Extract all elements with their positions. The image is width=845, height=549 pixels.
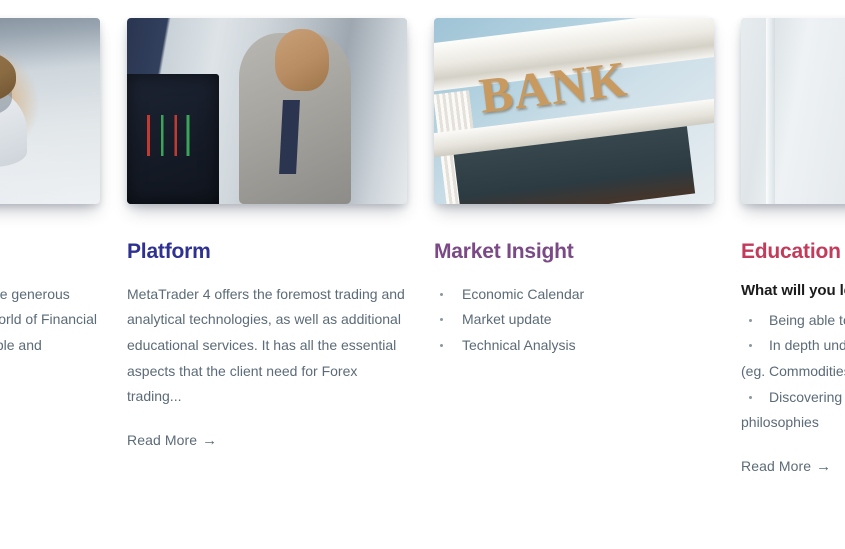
- card-bullet-list-market-insight: Economic Calendar Market update Technica…: [434, 282, 714, 359]
- list-item: Market update: [434, 307, 714, 333]
- photo-detail-candlestick-chart: [135, 115, 202, 156]
- carousel-track[interactable]: Partnerships At Merlion we strive to pro…: [0, 0, 845, 549]
- trader-at-monitors-photo: [127, 18, 407, 204]
- arrow-right-icon: →: [816, 458, 831, 475]
- list-item: Discovering trading and business philoso…: [741, 385, 845, 436]
- card-body-partnerships: Partnerships At Merlion we strive to pro…: [0, 204, 100, 424]
- card-market-insight[interactable]: BANK Market Insight Economic Calendar Ma…: [434, 0, 714, 399]
- card-image-partnerships[interactable]: [0, 18, 100, 204]
- card-text-partnerships: At Merlion we strive to provide generous…: [0, 282, 100, 384]
- card-partnerships[interactable]: Partnerships At Merlion we strive to pro…: [0, 0, 100, 424]
- list-item: Economic Calendar: [434, 282, 714, 308]
- card-image-market-insight[interactable]: BANK: [434, 18, 714, 204]
- card-body-platform: Platform MetaTrader 4 offers the foremos…: [127, 204, 407, 450]
- list-item: Technical Analysis: [434, 333, 714, 359]
- list-item: Being able to trade confidently: [741, 308, 845, 334]
- services-carousel[interactable]: Partnerships At Merlion we strive to pro…: [0, 0, 845, 549]
- card-title-partnerships: Partnerships: [0, 238, 100, 266]
- list-item: In depth understanding of the market (eg…: [741, 333, 845, 384]
- photo-detail-head: [275, 29, 328, 90]
- bank-building-facade-photo: BANK: [434, 18, 714, 204]
- card-image-platform[interactable]: [127, 18, 407, 204]
- read-more-link-platform[interactable]: Read More→: [127, 432, 217, 449]
- card-platform[interactable]: Platform MetaTrader 4 offers the foremos…: [127, 0, 407, 450]
- arrow-right-icon: →: [202, 432, 217, 449]
- raised-hand-presenting-photo: [741, 18, 845, 204]
- card-image-education-merlion[interactable]: [741, 18, 845, 204]
- read-more-link-education-merlion[interactable]: Read More→: [741, 458, 831, 475]
- card-title-market-insight: Market Insight: [434, 238, 714, 266]
- card-title-education-merlion: Education Merlion: [741, 238, 845, 266]
- card-title-platform: Platform: [127, 238, 407, 266]
- card-bullet-list-education-merlion: Being able to trade confidently In depth…: [741, 308, 845, 436]
- card-body-education-merlion: Education Merlion What will you learn? B…: [741, 204, 845, 476]
- photo-detail-tie: [279, 100, 300, 174]
- read-more-label: Read More: [741, 458, 811, 474]
- card-body-market-insight: Market Insight Economic Calendar Market …: [434, 204, 714, 399]
- read-more-label: Read More: [127, 432, 197, 448]
- young-professional-with-tablet-photo: [0, 18, 100, 204]
- card-subheading-education-merlion: What will you learn?: [741, 282, 845, 299]
- card-text-platform: MetaTrader 4 offers the foremost trading…: [127, 282, 407, 410]
- card-education-merlion[interactable]: Education Merlion What will you learn? B…: [741, 0, 845, 476]
